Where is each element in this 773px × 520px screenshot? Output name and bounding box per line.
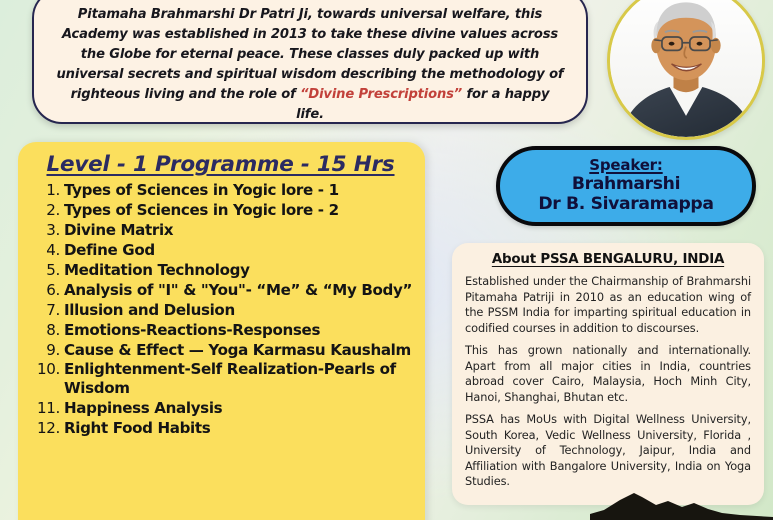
mountain-shape-icon [590, 484, 773, 520]
speaker-label: Speaker: [589, 157, 662, 175]
about-paragraph: Established under the Chairmanship of Br… [465, 274, 751, 336]
programme-list-item: Types of Sciences in Yogic lore - 2 [26, 201, 415, 220]
portrait-illustration [610, 0, 762, 137]
programme-list-item: Divine Matrix [26, 221, 415, 240]
programme-list-item: Happiness Analysis [26, 399, 415, 418]
programme-list-item: Types of Sciences in Yogic lore - 1 [26, 181, 415, 200]
speaker-honorific: Brahmarshi [572, 175, 680, 195]
speaker-portrait-photo [607, 0, 765, 140]
programme-list-item: Emotions-Reactions-Responses [26, 321, 415, 340]
divine-prescriptions-highlight: “Divine Prescriptions” [300, 87, 462, 102]
programme-panel: Level - 1 Programme - 15 Hrs Types of Sc… [18, 142, 425, 520]
programme-list-item: Analysis of "I" & "You"- “Me” & “My Body… [26, 281, 415, 300]
about-title: About PSSA BENGALURU, INDIA [465, 252, 751, 267]
intro-description-card: Under the direction of and in pursuance … [32, 0, 588, 124]
about-paragraph: PSSA has MoUs with Digital Wellness Univ… [465, 412, 751, 490]
programme-list-item: Enlightenment-Self Realization-Pearls of… [26, 360, 415, 398]
about-body: Established under the Chairmanship of Br… [465, 274, 751, 490]
programme-list-item: Cause & Effect — Yoga Karmasu Kaushalm [26, 341, 415, 360]
programme-title: Level - 1 Programme - 15 Hrs [26, 152, 415, 177]
programme-list-item: Illusion and Delusion [26, 301, 415, 320]
programme-list-item: Right Food Habits [26, 419, 415, 438]
about-paragraph: This has grown nationally and internatio… [465, 343, 751, 405]
mountain-silhouette-graphic [590, 484, 773, 520]
programme-topic-list: Types of Sciences in Yogic lore - 1Types… [26, 181, 415, 438]
intro-description-text: Under the direction of and in pursuance … [56, 0, 564, 126]
speaker-name: Dr B. Sivaramappa [538, 195, 713, 215]
speaker-badge: Speaker: Brahmarshi Dr B. Sivaramappa [496, 146, 756, 226]
about-pssa-card: About PSSA BENGALURU, INDIA Established … [452, 243, 764, 505]
programme-list-item: Meditation Technology [26, 261, 415, 280]
programme-list-item: Define God [26, 241, 415, 260]
